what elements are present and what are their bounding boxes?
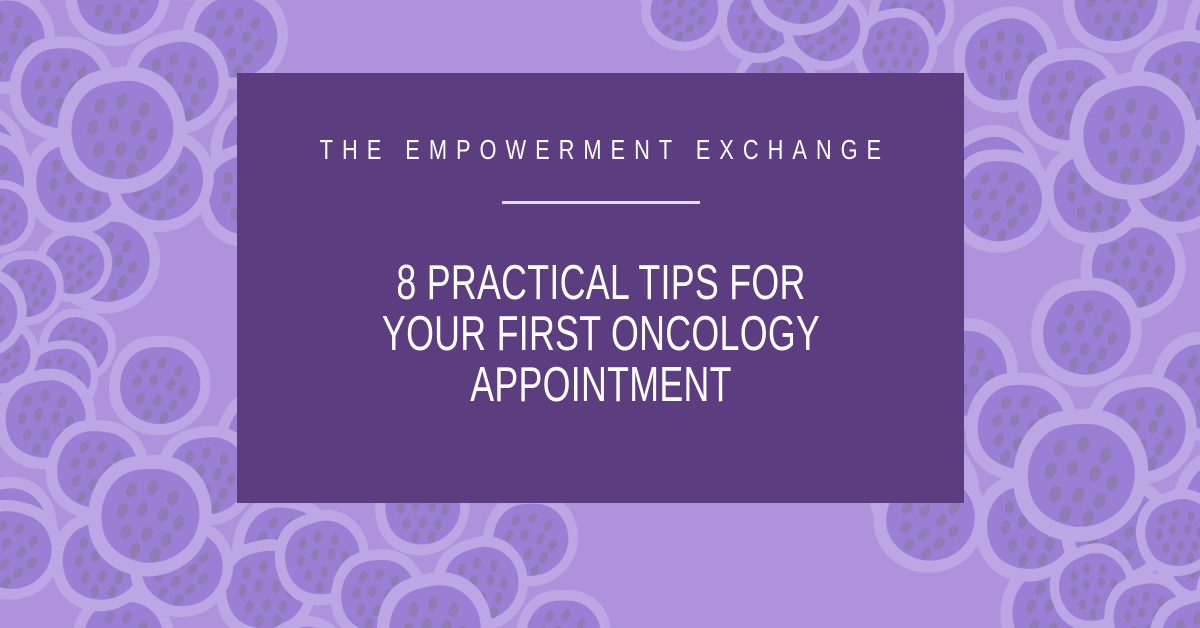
divider-rule <box>502 201 700 204</box>
page-title: 8 PRACTICAL TIPS FOR YOUR FIRST ONCOLOGY… <box>345 258 856 411</box>
headline-card: THE EMPOWERMENT EXCHANGE 8 PRACTICAL TIP… <box>237 73 964 503</box>
brand-eyebrow: THE EMPOWERMENT EXCHANGE <box>311 136 890 164</box>
poster-canvas: THE EMPOWERMENT EXCHANGE 8 PRACTICAL TIP… <box>0 0 1200 628</box>
